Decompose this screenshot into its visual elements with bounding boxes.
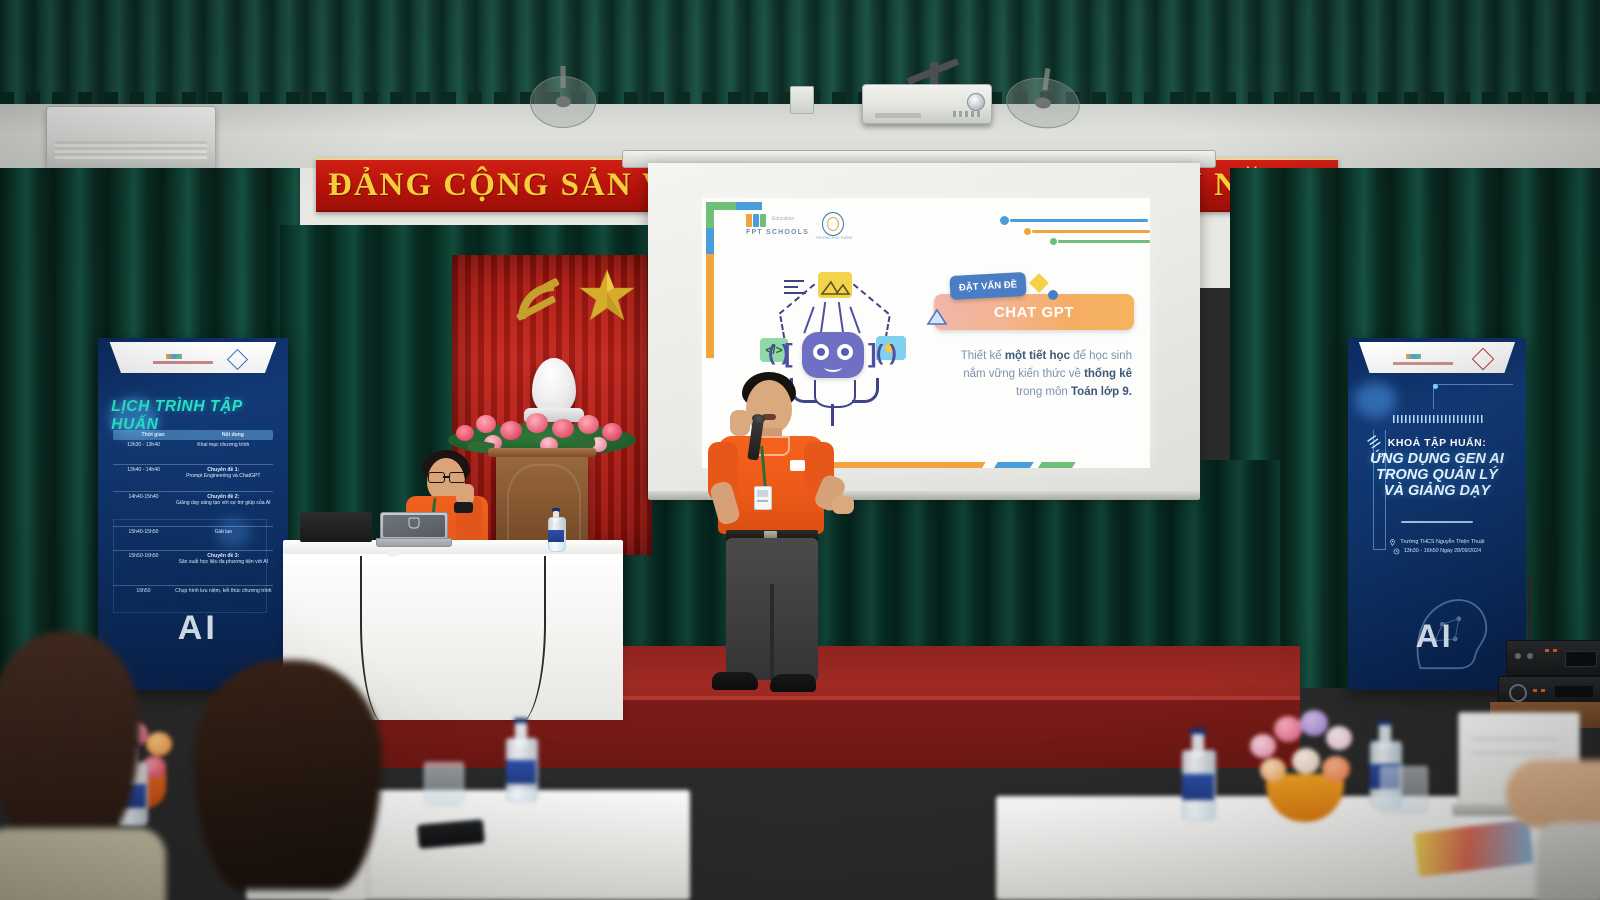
audience-right-arm: [1506, 760, 1600, 828]
audience-person-left: [0, 632, 180, 900]
audience-left-body: [0, 828, 166, 900]
schedule-row: 13h40 - 14h40 Chuyên đề 1:Prompt Enginee…: [113, 465, 273, 492]
clock-icon: [1393, 548, 1400, 555]
presenter-shoe-left: [712, 672, 758, 690]
water-bottle-left-table: [506, 718, 536, 802]
standee-time-row: 13h30 - 16h50 Ngày 28/09/2024: [1362, 548, 1512, 555]
red-banner-text-left: ĐẢNG CỘNG SẢN V: [328, 167, 668, 204]
problem-statement-badge: ĐẶT VẤN ĐỀ: [949, 272, 1026, 300]
slide-accent-top-blue: [736, 202, 762, 210]
coil-decor: [1393, 415, 1486, 423]
standee-title-line-3: TRONG QUẢN LÝ: [1348, 467, 1526, 483]
standee-info-block: Trường THCS Nguyễn Thiện Thuật 13h30 - 1…: [1362, 539, 1512, 555]
problem-statement-badge-text: ĐẶT VẤN ĐỀ: [959, 279, 1018, 293]
presenter-person: [694, 372, 864, 712]
blue-dot-decor: [1048, 290, 1058, 300]
audience-person-right: [1506, 742, 1600, 900]
triangle-decor: [926, 308, 948, 326]
slide-stripe-blue: [990, 462, 1033, 468]
schedule-col-time: Thời gian: [113, 430, 193, 440]
ceiling-speaker: [790, 86, 814, 114]
slide-accent-orange: [706, 254, 714, 358]
stage-laptop: [376, 512, 450, 546]
slide-body-line-2: nắm vững kiến thức về thống kê: [916, 366, 1132, 384]
chatgpt-title-bar: CHAT GPT: [934, 294, 1134, 330]
wristwatch: [454, 502, 473, 513]
schedule-col-content: Nội dung: [193, 430, 273, 440]
title-standee-banner: KHOÁ TẬP HUẤN: ỨNG DỤNG GEN AI TRONG QUẢ…: [1348, 338, 1526, 690]
audience-right-body: [1536, 822, 1600, 900]
standee-title-line-2: ỨNG DỤNG GEN AI: [1348, 451, 1526, 467]
eyeglasses-icon: [428, 472, 464, 481]
slide-accent-blue: [706, 228, 714, 254]
wall-fan-left: [530, 76, 596, 128]
lines-icon: [782, 278, 808, 298]
air-conditioner: [46, 106, 216, 170]
standee-title-line-1: KHOÁ TẬP HUẤN:: [1348, 437, 1526, 449]
gold-star-emblem: [578, 268, 636, 324]
map-pin-icon: [1389, 539, 1396, 546]
standee-time-text: 13h30 - 16h50 Ngày 28/09/2024: [1404, 548, 1481, 554]
yellow-diamond-decor: [1029, 273, 1049, 293]
standee-location-row: Trường THCS Nguyễn Thiện Thuật: [1362, 539, 1512, 546]
audio-mixer-rack: [1506, 640, 1600, 676]
slide-dot-orange: [1024, 228, 1031, 235]
schedule-table-header: Thời gian Nội dung: [113, 430, 273, 440]
audience-center-hair: [194, 660, 382, 890]
hammer-and-sickle-emblem: [508, 275, 566, 329]
seated-person-hand: [456, 484, 474, 504]
black-equipment-box: [300, 512, 372, 542]
image-icon: [818, 272, 852, 298]
standee-ai-word-right: AI: [1416, 618, 1454, 655]
standee-title-block: KHOÁ TẬP HUẤN: ỨNG DỤNG GEN AI TRONG QUẢ…: [1348, 437, 1526, 499]
slide-line-blue: [1010, 219, 1148, 222]
slide-body-line-1: Thiết kế một tiết học để học sinh: [916, 348, 1132, 366]
slide-stripe-green: [1034, 462, 1075, 468]
water-bottle-stage: [548, 508, 564, 552]
water-bottle-right-table-1: [1182, 728, 1214, 820]
slide-dot-blue: [1000, 216, 1009, 225]
slide-accent-top-green: [706, 202, 736, 210]
fpt-schools-logo-text: FPT SCHOOLS: [746, 229, 809, 236]
fpt-chest-logo: [790, 460, 805, 471]
fpt-logo-subtext: Education: [772, 216, 794, 222]
microphone-stand: [1528, 576, 1531, 640]
school-emblem-caption: TRƯỜNG PHỔ THÔNG: [808, 236, 860, 240]
slide-line-orange: [1032, 230, 1150, 233]
drinking-glass-left: [424, 762, 464, 806]
audience-person-center: [186, 660, 392, 900]
chatgpt-title-text: CHAT GPT: [994, 304, 1074, 321]
standee-header-logos: [109, 342, 276, 374]
school-emblem-icon: [822, 212, 844, 236]
schedule-title: LỊCH TRÌNH TẬP HUẤN: [111, 398, 288, 434]
presenter-hand-left: [730, 410, 750, 436]
standee-ai-word-left: AI: [178, 609, 218, 648]
standee-location-text: Trường THCS Nguyễn Thiện Thuật: [1400, 539, 1484, 545]
standee-header-logos-right: [1359, 342, 1516, 374]
slide-line-green: [1058, 240, 1150, 243]
slide-dot-green: [1050, 238, 1057, 245]
stage-table-top-surface: [283, 540, 623, 554]
presenter-id-badge: [754, 486, 772, 510]
trouser-split: [770, 584, 774, 680]
presentation-room-photo: ĐẢNG CỘNG SẢN V N NĂM !: [0, 0, 1600, 900]
audience-left-hair: [0, 632, 140, 842]
schedule-row: 13h30 - 13h40 Khai mạc chương trình: [113, 440, 273, 465]
flower-bowl-right: [1236, 700, 1372, 824]
presenter-hand-right: [832, 496, 854, 514]
slide-body-text: Thiết kế một tiết học để học sinh nắm vữ…: [916, 348, 1132, 401]
slide-body-line-3: trong môn Toán lớp 9.: [916, 384, 1132, 402]
presenter-shoe-right: [770, 674, 816, 692]
drinking-glass-right: [1380, 766, 1428, 814]
ceiling-projector: [862, 84, 992, 124]
standee-title-line-4: VÀ GIẢNG DẠY: [1348, 483, 1526, 499]
